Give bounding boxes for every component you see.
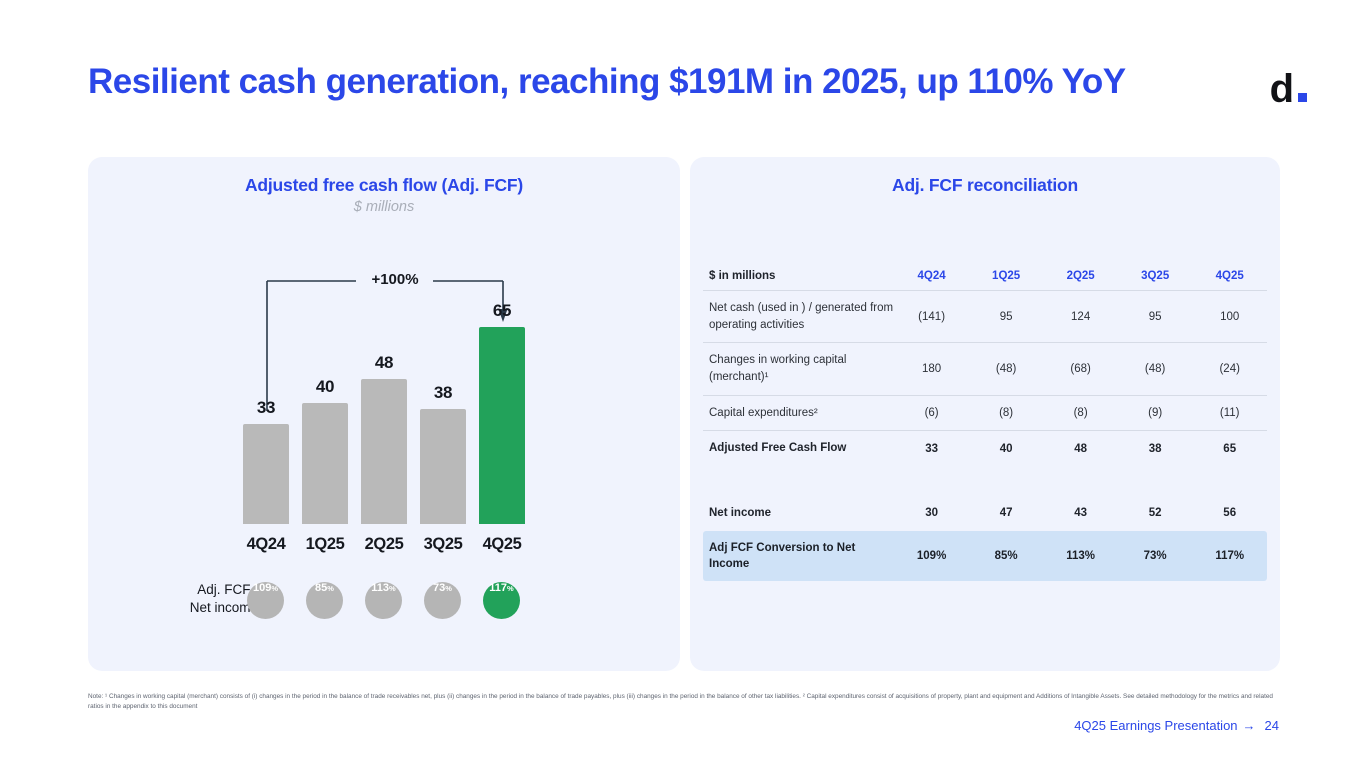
bar-column-4q25: 65 bbox=[479, 301, 525, 524]
row-label-capex: Capital expenditures² bbox=[703, 395, 894, 431]
ratio-bubble-4q24[interactable]: 109% bbox=[247, 582, 284, 619]
ratio-bubble-2q25[interactable]: 113% bbox=[365, 582, 402, 619]
bar-value-3q25: 38 bbox=[434, 383, 452, 403]
bar-value-4q25: 65 bbox=[493, 301, 511, 321]
cell-working-capital-1q25: (48) bbox=[969, 343, 1044, 395]
ratio-bubble-4q25[interactable]: 117% bbox=[483, 582, 520, 619]
table-header-4q25: 4Q25 bbox=[1192, 261, 1267, 291]
bar-3q25[interactable] bbox=[420, 409, 466, 524]
cell-adjusted-fcf-2q25: 48 bbox=[1043, 431, 1118, 466]
bar-4q24[interactable] bbox=[243, 424, 289, 524]
table-header-units: $ in millions bbox=[703, 261, 894, 291]
row-label-fcf-conversion: Adj FCF Conversion to Net Income bbox=[703, 531, 894, 581]
cell-capex-3q25: (9) bbox=[1118, 395, 1193, 431]
cell-working-capital-2q25: (68) bbox=[1043, 343, 1118, 395]
logo-square-dot-icon bbox=[1298, 93, 1307, 102]
cell-adjusted-fcf-3q25: 38 bbox=[1118, 431, 1193, 466]
row-label-working-capital: Changes in working capital (merchant)¹ bbox=[703, 343, 894, 395]
table-row: Capital expenditures² (6) (8) (8) (9) (1… bbox=[703, 395, 1267, 431]
cell-working-capital-3q25: (48) bbox=[1118, 343, 1193, 395]
cell-working-capital-4q25: (24) bbox=[1192, 343, 1267, 395]
table-spacer-row bbox=[703, 466, 1267, 496]
table-header-1q25: 1Q25 bbox=[969, 261, 1044, 291]
slide: Resilient cash generation, reaching $191… bbox=[0, 0, 1365, 768]
cell-net-cash-4q25: 100 bbox=[1192, 291, 1267, 343]
table-header-4q24: 4Q24 bbox=[894, 261, 969, 291]
ratio-bubble-3q25[interactable]: 73% bbox=[424, 582, 461, 619]
bar-column-4q24: 33 bbox=[243, 398, 289, 524]
cell-net-cash-2q25: 124 bbox=[1043, 291, 1118, 343]
bar-chart: +100% 33 40 48 38 65 4Q bbox=[88, 157, 680, 671]
bar-1q25[interactable] bbox=[302, 403, 348, 524]
cell-net-income-2q25: 43 bbox=[1043, 496, 1118, 531]
logo-letter-d: d bbox=[1270, 70, 1294, 108]
reconciliation-panel-title: Adj. FCF reconciliation bbox=[690, 175, 1280, 196]
cell-net-income-1q25: 47 bbox=[969, 496, 1044, 531]
cell-adjusted-fcf-4q24: 33 bbox=[894, 431, 969, 466]
cell-fcf-conversion-4q24: 109% bbox=[894, 531, 969, 581]
cell-fcf-conversion-1q25: 85% bbox=[969, 531, 1044, 581]
ratio-row-label-line1: Adj. FCF / bbox=[128, 581, 258, 599]
table-row: Changes in working capital (merchant)¹ 1… bbox=[703, 343, 1267, 395]
table-row: Adjusted Free Cash Flow 33 40 48 38 65 bbox=[703, 431, 1267, 466]
cell-capex-4q24: (6) bbox=[894, 395, 969, 431]
cell-fcf-conversion-3q25: 73% bbox=[1118, 531, 1193, 581]
table-header-row: $ in millions 4Q24 1Q25 2Q25 3Q25 4Q25 bbox=[703, 261, 1267, 291]
row-label-adjusted-fcf: Adjusted Free Cash Flow bbox=[703, 431, 894, 466]
table-row: Net income 30 47 43 52 56 bbox=[703, 496, 1267, 531]
table-header-3q25: 3Q25 bbox=[1118, 261, 1193, 291]
page-title: Resilient cash generation, reaching $191… bbox=[88, 62, 1126, 102]
reconciliation-table: $ in millions 4Q24 1Q25 2Q25 3Q25 4Q25 N… bbox=[703, 261, 1267, 581]
ratio-row-label-line2: Net income bbox=[128, 599, 258, 617]
cell-working-capital-4q24: 180 bbox=[894, 343, 969, 395]
ratio-row-label: Adj. FCF / Net income bbox=[128, 581, 258, 617]
row-label-net-cash: Net cash (used in ) / generated from ope… bbox=[703, 291, 894, 343]
table-header-2q25: 2Q25 bbox=[1043, 261, 1118, 291]
cell-adjusted-fcf-1q25: 40 bbox=[969, 431, 1044, 466]
cell-net-cash-3q25: 95 bbox=[1118, 291, 1193, 343]
ratio-bubble-value-3q25: 73% bbox=[433, 582, 452, 594]
cell-net-income-3q25: 52 bbox=[1118, 496, 1193, 531]
ratio-bubble-value-4q25: 117% bbox=[489, 582, 513, 594]
cell-adjusted-fcf-4q25: 65 bbox=[1192, 431, 1267, 466]
chart-panel: Adjusted free cash flow (Adj. FCF) $ mil… bbox=[88, 157, 680, 671]
bar-2q25[interactable] bbox=[361, 379, 407, 524]
bar-value-4q24: 33 bbox=[257, 398, 275, 418]
table-row: Net cash (used in ) / generated from ope… bbox=[703, 291, 1267, 343]
bar-value-2q25: 48 bbox=[375, 353, 393, 373]
cell-capex-1q25: (8) bbox=[969, 395, 1044, 431]
arrow-right-icon: → bbox=[1243, 718, 1256, 733]
cell-fcf-conversion-2q25: 113% bbox=[1043, 531, 1118, 581]
row-label-net-income: Net income bbox=[703, 496, 894, 531]
ratio-bubble-value-4q24: 109% bbox=[253, 582, 278, 594]
cell-net-cash-4q24: (141) bbox=[894, 291, 969, 343]
cell-net-income-4q25: 56 bbox=[1192, 496, 1267, 531]
footer-deck-name: 4Q25 Earnings Presentation bbox=[1074, 718, 1237, 733]
table-spacer-cell bbox=[703, 466, 1267, 496]
footer-deck-link[interactable]: 4Q25 Earnings Presentation→24 bbox=[1074, 718, 1279, 733]
page-number: 24 bbox=[1265, 718, 1279, 733]
annotation-label: +100% bbox=[360, 271, 430, 288]
bar-column-2q25: 48 bbox=[361, 353, 407, 524]
cell-fcf-conversion-4q25: 117% bbox=[1192, 531, 1267, 581]
bar-value-1q25: 40 bbox=[316, 377, 334, 397]
ratio-bubble-value-2q25: 113% bbox=[371, 582, 395, 594]
ratio-bubble-1q25[interactable]: 85% bbox=[306, 582, 343, 619]
bar-4q25[interactable] bbox=[479, 327, 525, 524]
table-row-highlighted: Adj FCF Conversion to Net Income 109% 85… bbox=[703, 531, 1267, 581]
reconciliation-panel: Adj. FCF reconciliation $ in millions 4Q… bbox=[690, 157, 1280, 671]
footnote-text: Note: ¹ Changes in working capital (merc… bbox=[88, 692, 1280, 712]
cell-net-income-4q24: 30 bbox=[894, 496, 969, 531]
company-logo: d bbox=[1270, 70, 1307, 108]
x-axis-label-4q25: 4Q25 bbox=[467, 535, 537, 554]
ratio-bubble-value-1q25: 85% bbox=[315, 582, 334, 594]
bar-column-3q25: 38 bbox=[420, 383, 466, 524]
cell-capex-4q25: (11) bbox=[1192, 395, 1267, 431]
bar-column-1q25: 40 bbox=[302, 377, 348, 524]
cell-net-cash-1q25: 95 bbox=[969, 291, 1044, 343]
cell-capex-2q25: (8) bbox=[1043, 395, 1118, 431]
